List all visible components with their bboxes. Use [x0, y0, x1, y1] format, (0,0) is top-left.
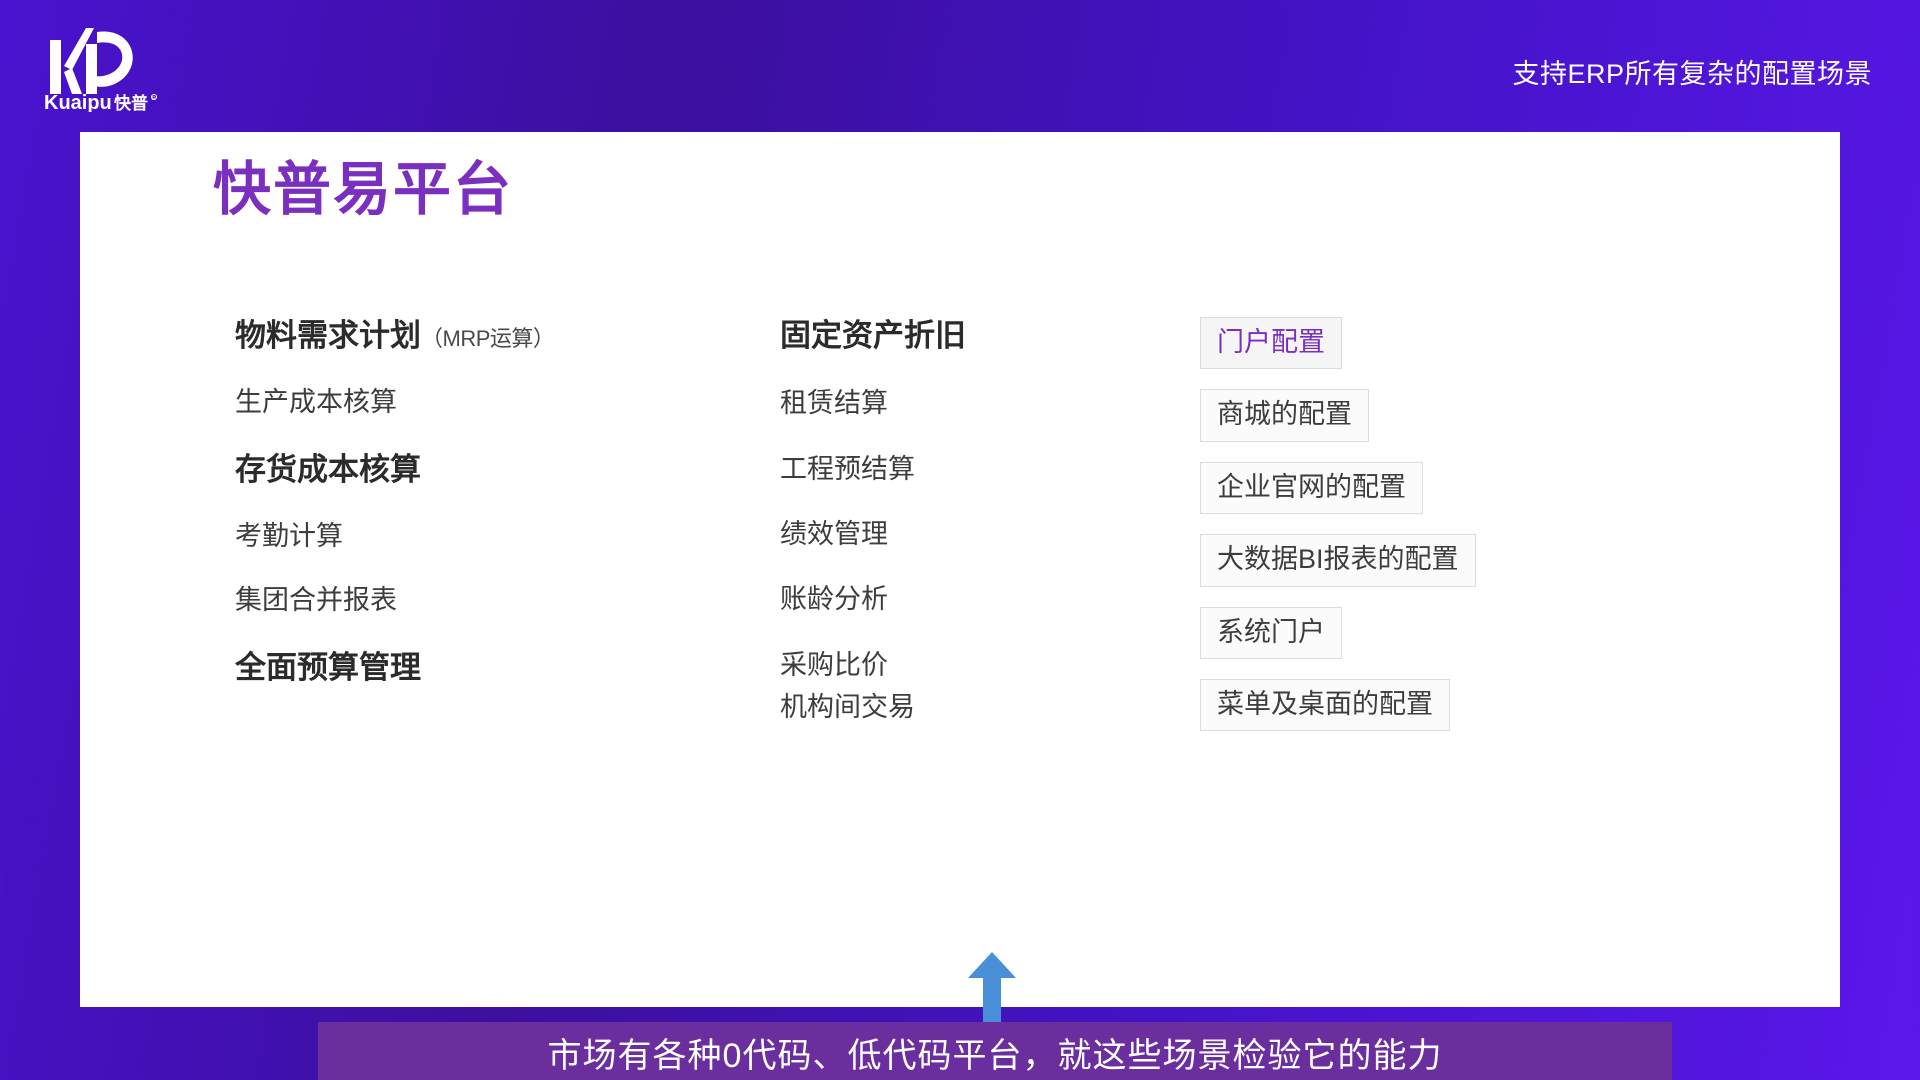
list-item: 集团合并报表 [235, 584, 665, 616]
config-chip[interactable]: 菜单及桌面的配置 [1200, 679, 1450, 731]
list-item: 工程预结算 [780, 453, 1110, 485]
feature-column-2: 固定资产折旧 租赁结算 工程预结算 绩效管理 账龄分析 采购比价 机构间交易 [780, 317, 1110, 724]
bottom-banner: 市场有各种0代码、低代码平台，就这些场景检验它的能力 [318, 1022, 1672, 1080]
list-item: 生产成本核算 [235, 386, 665, 418]
config-chip[interactable]: 门户配置 [1200, 317, 1342, 369]
kuaipu-kp-logo: Kuaipu 快普 R [42, 18, 172, 112]
config-chip[interactable]: 大数据BI报表的配置 [1200, 534, 1476, 586]
page-title: 快普易平台 [213, 157, 513, 224]
feature-column-3: 门户配置 商城的配置 企业官网的配置 大数据BI报表的配置 系统门户 菜单及桌面… [1200, 317, 1720, 751]
config-chip[interactable]: 系统门户 [1200, 607, 1342, 659]
slide-header: Kuaipu 快普 R 支持ERP所有复杂的配置场景 [0, 0, 1920, 132]
svg-text:R: R [152, 96, 156, 102]
list-item: 账龄分析 [780, 583, 1110, 615]
config-chip[interactable]: 企业官网的配置 [1200, 462, 1423, 514]
feature-columns: 物料需求计划（MRP运算） 生产成本核算 存货成本核算 考勤计算 集团合并报表 … [80, 317, 1840, 917]
header-tagline: 支持ERP所有复杂的配置场景 [1512, 52, 1872, 91]
feature-column-1: 物料需求计划（MRP运算） 生产成本核算 存货成本核算 考勤计算 集团合并报表 … [235, 317, 665, 718]
list-item: 机构间交易 [780, 691, 1110, 723]
logo-wordmark-cjk: 快普 [114, 93, 148, 112]
logo-wordmark-latin: Kuaipu [44, 92, 112, 112]
list-item: 采购比价 [780, 649, 1110, 681]
list-item: 存货成本核算 [235, 451, 665, 488]
item-note: （MRP运算） [421, 326, 554, 351]
content-card: 快普易平台 物料需求计划（MRP运算） 生产成本核算 存货成本核算 考勤计算 集… [80, 132, 1840, 1007]
list-item: 绩效管理 [780, 518, 1110, 550]
up-arrow-icon [968, 952, 1016, 1024]
item-label: 物料需求计划 [235, 318, 421, 353]
banner-text: 市场有各种0代码、低代码平台，就这些场景检验它的能力 [548, 1028, 1443, 1077]
list-item: 固定资产折旧 [780, 317, 1110, 354]
list-item: 物料需求计划（MRP运算） [235, 317, 665, 354]
list-item: 考勤计算 [235, 520, 665, 552]
list-item: 全面预算管理 [235, 649, 665, 686]
list-item: 租赁结算 [780, 387, 1110, 419]
config-chip[interactable]: 商城的配置 [1200, 389, 1369, 441]
